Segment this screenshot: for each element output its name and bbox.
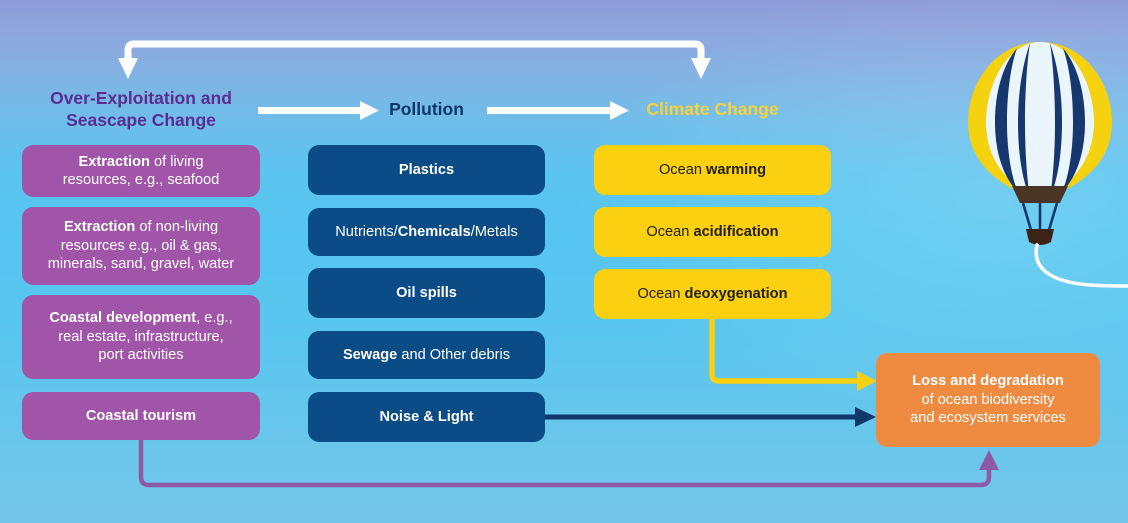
balloon-ropes (1023, 203, 1057, 230)
node-coastal-development[interactable]: Coastal development, e.g.,real estate, i… (22, 295, 260, 379)
node-noise-light[interactable]: Noise & Light (308, 392, 545, 442)
balloon-band (1012, 186, 1068, 203)
outcome-label-line3: and ecosystem services (910, 410, 1066, 426)
node-extraction-non-living[interactable]: Extraction of non-livingresources e.g., … (22, 207, 260, 285)
node-label: Noise & Light (318, 408, 535, 426)
node-label-bold: Chemicals (398, 224, 471, 240)
outcome-label-line1: Loss and degradation (912, 373, 1064, 389)
node-label-bold: Extraction (79, 154, 150, 170)
node-label-bold: Coastal tourism (86, 408, 196, 424)
node-nutrients-chemicals-metals[interactable]: Nutrients/Chemicals/Metals (308, 208, 545, 256)
balloon-tether (1036, 245, 1128, 286)
node-loss-and-degradation[interactable]: Loss and degradationof ocean biodiversit… (876, 353, 1100, 447)
node-label-bold: Coastal development (49, 310, 196, 326)
node-label: Oil spills (318, 284, 535, 302)
node-plastics[interactable]: Plastics (308, 145, 545, 195)
node-label-pre: Nutrients/ (335, 224, 397, 240)
node-label-bold: Sewage (343, 347, 397, 363)
column-header-climate-change: Climate Change (594, 99, 831, 121)
node-ocean-warming[interactable]: Ocean warming (594, 145, 831, 195)
node-label-pre: Ocean (637, 286, 684, 302)
node-label-bold: deoxygenation (685, 286, 788, 302)
node-sewage-other-debris[interactable]: Sewage and Other debris (308, 331, 545, 379)
node-label-post: and Other debris (397, 347, 510, 363)
infographic-canvas: Over-Exploitation and Seascape Change Po… (0, 0, 1128, 523)
node-ocean-deoxygenation[interactable]: Ocean deoxygenation (594, 269, 831, 319)
node-label-pre: Ocean (646, 224, 693, 240)
column-header-over-exploitation: Over-Exploitation and Seascape Change (22, 88, 260, 131)
node-label-post: /Metals (471, 224, 518, 240)
balloon-basket (1026, 229, 1054, 245)
node-label-bold: Extraction (64, 219, 135, 235)
node-label-bold: acidification (693, 224, 778, 240)
outcome-label-line2: of ocean biodiversity (921, 392, 1054, 408)
node-label-bold: warming (706, 162, 766, 178)
node-oil-spills[interactable]: Oil spills (308, 268, 545, 318)
node-label: Plastics (318, 161, 535, 179)
node-extraction-living[interactable]: Extraction of livingresources, e.g., sea… (22, 145, 260, 197)
node-coastal-tourism[interactable]: Coastal tourism (22, 392, 260, 440)
node-label-pre: Ocean (659, 162, 706, 178)
balloon-envelope (968, 42, 1112, 200)
column-header-pollution: Pollution (308, 99, 545, 121)
node-ocean-acidification[interactable]: Ocean acidification (594, 207, 831, 257)
